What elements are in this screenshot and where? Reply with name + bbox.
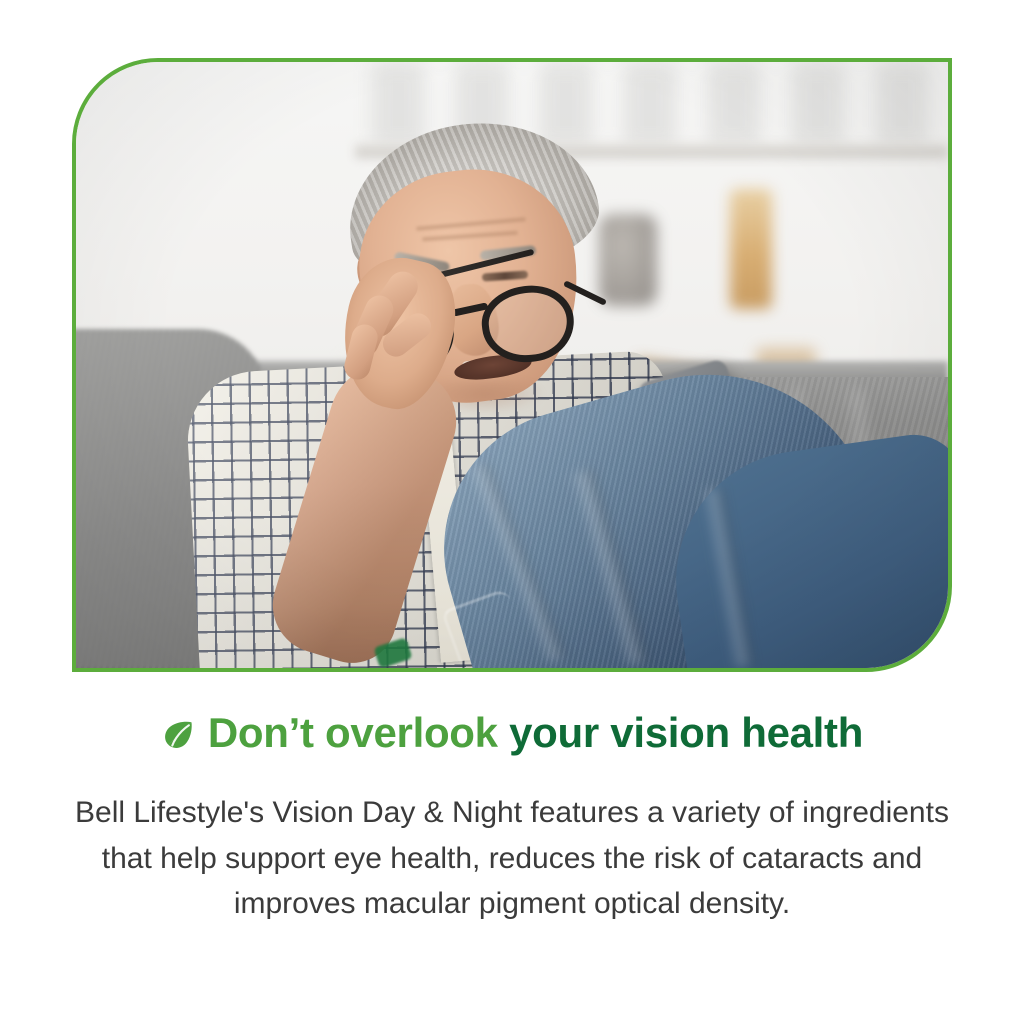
glasses-lens: [478, 281, 579, 368]
headline-secondary: your vision health: [509, 709, 863, 756]
leaf-icon: [161, 717, 195, 759]
senior-man: [76, 62, 948, 668]
promo-page: Don’t overlook your vision health Bell L…: [0, 0, 1024, 1024]
body-paragraph: Bell Lifestyle's Vision Day & Night feat…: [62, 790, 962, 927]
glasses-temple-arm: [563, 280, 607, 306]
hero-photo: [76, 62, 948, 668]
headline-primary: Don’t overlook: [208, 709, 498, 756]
headline: Don’t overlook your vision health: [0, 712, 1024, 759]
hero-image-frame: [72, 58, 952, 672]
